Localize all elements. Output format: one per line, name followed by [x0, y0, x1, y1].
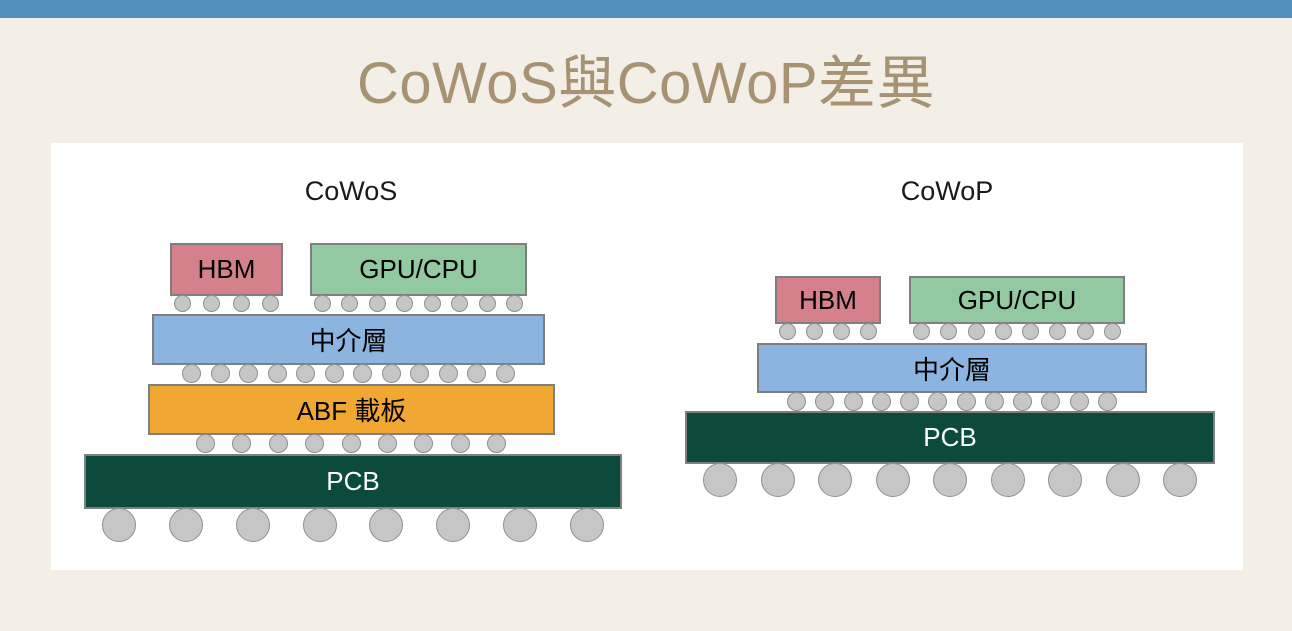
solder-ball	[169, 508, 203, 542]
solder-ball	[1048, 463, 1082, 497]
solder-ball	[233, 295, 250, 312]
solder-ball	[369, 508, 403, 542]
cowos-pcb-bga-balls	[102, 508, 604, 542]
solder-ball	[262, 295, 279, 312]
solder-ball	[467, 364, 486, 383]
solder-ball	[353, 364, 372, 383]
cowos-abf-label: ABF 載板	[297, 391, 407, 428]
solder-ball	[268, 364, 287, 383]
panel-cowop: CoWoP HBM GPU/CPU 中介層	[651, 143, 1243, 570]
solder-ball	[174, 295, 191, 312]
solder-ball	[570, 508, 604, 542]
solder-ball	[369, 295, 386, 312]
solder-ball	[876, 463, 910, 497]
solder-ball	[1104, 323, 1121, 340]
cowop-interposer-to-pcb-balls	[787, 392, 1117, 411]
solder-ball	[1070, 392, 1089, 411]
solder-ball	[968, 323, 985, 340]
solder-ball	[314, 295, 331, 312]
cowos-hbm-label: HBM	[198, 254, 256, 285]
cowos-hbm-microbumps	[174, 295, 279, 312]
cowop-gpu-microbumps	[913, 323, 1121, 340]
diagram-card: CoWoS HBM GPU/CPU 中介層	[51, 143, 1243, 570]
solder-ball	[913, 323, 930, 340]
solder-ball	[451, 434, 470, 453]
solder-ball	[1041, 392, 1060, 411]
cowop-block-hbm: HBM	[775, 276, 881, 324]
solder-ball	[1163, 463, 1197, 497]
solder-ball	[410, 364, 429, 383]
solder-ball	[503, 508, 537, 542]
solder-ball	[236, 508, 270, 542]
cowop-hbm-label: HBM	[799, 285, 857, 316]
solder-ball	[844, 392, 863, 411]
solder-ball	[342, 434, 361, 453]
solder-ball	[232, 434, 251, 453]
cowos-block-gpu-cpu: GPU/CPU	[310, 243, 527, 296]
solder-ball	[296, 364, 315, 383]
solder-ball	[506, 295, 523, 312]
solder-ball	[933, 463, 967, 497]
solder-ball	[872, 392, 891, 411]
solder-ball	[833, 323, 850, 340]
solder-ball	[900, 392, 919, 411]
cowop-block-pcb: PCB	[685, 411, 1215, 464]
cowos-pcb-label: PCB	[326, 466, 379, 497]
cowop-pcb-label: PCB	[923, 422, 976, 453]
cowos-gpu-microbumps	[314, 295, 523, 312]
solder-ball	[995, 323, 1012, 340]
cowop-block-interposer: 中介層	[757, 343, 1147, 393]
panel-cowos: CoWoS HBM GPU/CPU 中介層	[51, 143, 651, 570]
solder-ball	[779, 323, 796, 340]
solder-ball	[991, 463, 1025, 497]
solder-ball	[1098, 392, 1117, 411]
solder-ball	[761, 463, 795, 497]
solder-ball	[1077, 323, 1094, 340]
solder-ball	[305, 434, 324, 453]
cowos-block-pcb: PCB	[84, 454, 622, 509]
solder-ball	[378, 434, 397, 453]
solder-ball	[211, 364, 230, 383]
top-accent-bar	[0, 0, 1292, 18]
solder-ball	[957, 392, 976, 411]
cowop-hbm-microbumps	[779, 323, 877, 340]
solder-ball	[1013, 392, 1032, 411]
cowos-substrate-to-pcb-balls	[196, 434, 506, 453]
solder-ball	[806, 323, 823, 340]
solder-ball	[487, 434, 506, 453]
cowop-pcb-bga-balls	[703, 463, 1197, 497]
solder-ball	[985, 392, 1004, 411]
solder-ball	[341, 295, 358, 312]
solder-ball	[182, 364, 201, 383]
cowos-block-abf-substrate: ABF 載板	[148, 384, 555, 435]
solder-ball	[815, 392, 834, 411]
solder-ball	[1106, 463, 1140, 497]
cowop-block-gpu-cpu: GPU/CPU	[909, 276, 1125, 324]
panel-cowop-title: CoWoP	[651, 175, 1243, 207]
solder-ball	[479, 295, 496, 312]
cowos-interposer-label: 中介層	[309, 321, 387, 358]
solder-ball	[424, 295, 441, 312]
solder-ball	[940, 323, 957, 340]
solder-ball	[439, 364, 458, 383]
cowos-gpu-cpu-label: GPU/CPU	[359, 254, 477, 285]
solder-ball	[1049, 323, 1066, 340]
panel-cowos-title: CoWoS	[51, 175, 651, 207]
solder-ball	[860, 323, 877, 340]
solder-ball	[818, 463, 852, 497]
solder-ball	[787, 392, 806, 411]
solder-ball	[396, 295, 413, 312]
solder-ball	[382, 364, 401, 383]
solder-ball	[303, 508, 337, 542]
cowop-interposer-label: 中介層	[913, 350, 991, 387]
solder-ball	[496, 364, 515, 383]
solder-ball	[102, 508, 136, 542]
page-title: CoWoS與CoWoP差異	[0, 48, 1292, 120]
solder-ball	[414, 434, 433, 453]
solder-ball	[196, 434, 215, 453]
solder-ball	[451, 295, 468, 312]
solder-ball	[325, 364, 344, 383]
solder-ball	[203, 295, 220, 312]
cowop-gpu-cpu-label: GPU/CPU	[958, 285, 1076, 316]
cowos-block-interposer: 中介層	[152, 314, 545, 365]
solder-ball	[928, 392, 947, 411]
solder-ball	[269, 434, 288, 453]
solder-ball	[239, 364, 258, 383]
solder-ball	[703, 463, 737, 497]
cowos-block-hbm: HBM	[170, 243, 283, 296]
solder-ball	[436, 508, 470, 542]
solder-ball	[1022, 323, 1039, 340]
cowos-interposer-to-substrate-bumps	[182, 364, 515, 383]
